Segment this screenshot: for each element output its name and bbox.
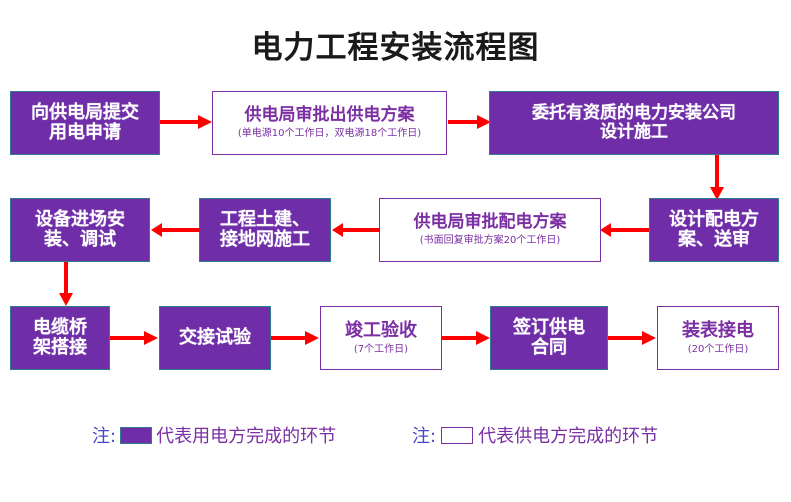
node-completion-title: 竣工验收 bbox=[345, 321, 417, 341]
node-approve-supply-note: (单电源10个工作日，双电源18个工作日) bbox=[238, 128, 421, 139]
node-completion[interactable]: 竣工验收 (7个工作日) bbox=[320, 306, 442, 370]
arrow-civil-ground-to-equip-install bbox=[151, 222, 200, 238]
arrow-handover-test-to-completion bbox=[271, 330, 319, 346]
node-handover-test[interactable]: 交接试验 bbox=[159, 306, 271, 370]
node-handover-test-title: 交接试验 bbox=[179, 328, 251, 348]
node-sign-contract[interactable]: 签订供电 合同 bbox=[490, 306, 608, 370]
node-civil-ground[interactable]: 工程土建、 接地网施工 bbox=[199, 198, 331, 262]
legend-item-customer: 注: 代表用电方完成的环节 bbox=[92, 422, 336, 448]
arrow-completion-to-sign-contract bbox=[442, 330, 490, 346]
node-meter-connect-note: (20个工作日) bbox=[688, 344, 749, 355]
node-cable-tray-line1: 电缆桥 bbox=[33, 318, 87, 338]
node-apply-line2: 用电申请 bbox=[49, 123, 121, 143]
page-title: 电力工程安装流程图 bbox=[0, 22, 791, 67]
node-meter-connect-title: 装表接电 bbox=[682, 321, 754, 341]
node-design-send-line2: 案、送审 bbox=[678, 230, 750, 250]
legend-utility-text: 代表供电方完成的环节 bbox=[478, 422, 658, 448]
node-approve-supply-title: 供电局审批出供电方案 bbox=[245, 106, 415, 125]
node-approve-distrib-title: 供电局审批配电方案 bbox=[414, 213, 567, 232]
node-sign-contract-line2: 合同 bbox=[531, 338, 567, 358]
node-meter-connect[interactable]: 装表接电 (20个工作日) bbox=[657, 306, 779, 370]
legend-utility-label: 注: bbox=[412, 422, 436, 448]
arrow-approve-distrib-to-civil-ground bbox=[332, 222, 380, 238]
arrow-sign-contract-to-meter-connect bbox=[608, 330, 656, 346]
node-entrust[interactable]: 委托有资质的电力安装公司 设计施工 bbox=[489, 91, 779, 155]
node-equip-install[interactable]: 设备进场安 装、调试 bbox=[10, 198, 150, 262]
legend-item-utility: 注: 代表供电方完成的环节 bbox=[412, 422, 658, 448]
node-equip-install-line2: 装、调试 bbox=[44, 230, 116, 250]
node-civil-ground-line1: 工程土建、 bbox=[220, 210, 310, 230]
legend-customer-label: 注: bbox=[92, 422, 116, 448]
node-approve-distrib-note: (书面回复审批方案20个工作日) bbox=[420, 235, 561, 246]
node-equip-install-line1: 设备进场安 bbox=[35, 210, 125, 230]
node-apply[interactable]: 向供电局提交 用电申请 bbox=[10, 91, 160, 155]
arrow-cable-tray-to-handover-test bbox=[110, 330, 158, 346]
node-approve-supply[interactable]: 供电局审批出供电方案 (单电源10个工作日，双电源18个工作日) bbox=[212, 91, 447, 155]
legend-outlined-swatch bbox=[441, 427, 473, 444]
node-completion-note: (7个工作日) bbox=[354, 344, 408, 355]
arrow-approve-supply-to-entrust bbox=[448, 114, 491, 130]
arrow-apply-to-approve-supply bbox=[160, 114, 212, 130]
legend-customer-text: 代表用电方完成的环节 bbox=[156, 422, 336, 448]
arrow-entrust-to-design-send bbox=[709, 155, 725, 200]
node-entrust-line1: 委托有资质的电力安装公司 bbox=[532, 104, 736, 123]
node-design-send[interactable]: 设计配电方 案、送审 bbox=[649, 198, 779, 262]
arrow-design-send-to-approve-distrib bbox=[600, 222, 649, 238]
node-design-send-line1: 设计配电方 bbox=[669, 210, 759, 230]
node-entrust-line2: 设计施工 bbox=[600, 123, 668, 142]
node-cable-tray-line2: 架搭接 bbox=[33, 338, 87, 358]
legend-filled-swatch bbox=[120, 427, 152, 444]
arrow-equip-install-to-cable-tray bbox=[58, 262, 74, 306]
node-approve-distrib[interactable]: 供电局审批配电方案 (书面回复审批方案20个工作日) bbox=[379, 198, 601, 262]
node-cable-tray[interactable]: 电缆桥 架搭接 bbox=[10, 306, 110, 370]
node-sign-contract-line1: 签订供电 bbox=[513, 318, 585, 338]
flowchart-canvas: 电力工程安装流程图 向供电局提交 用电申请 供电局审批出供电方案 (单电源10个… bbox=[0, 0, 791, 502]
node-civil-ground-line2: 接地网施工 bbox=[220, 230, 310, 250]
node-apply-line1: 向供电局提交 bbox=[31, 103, 139, 123]
